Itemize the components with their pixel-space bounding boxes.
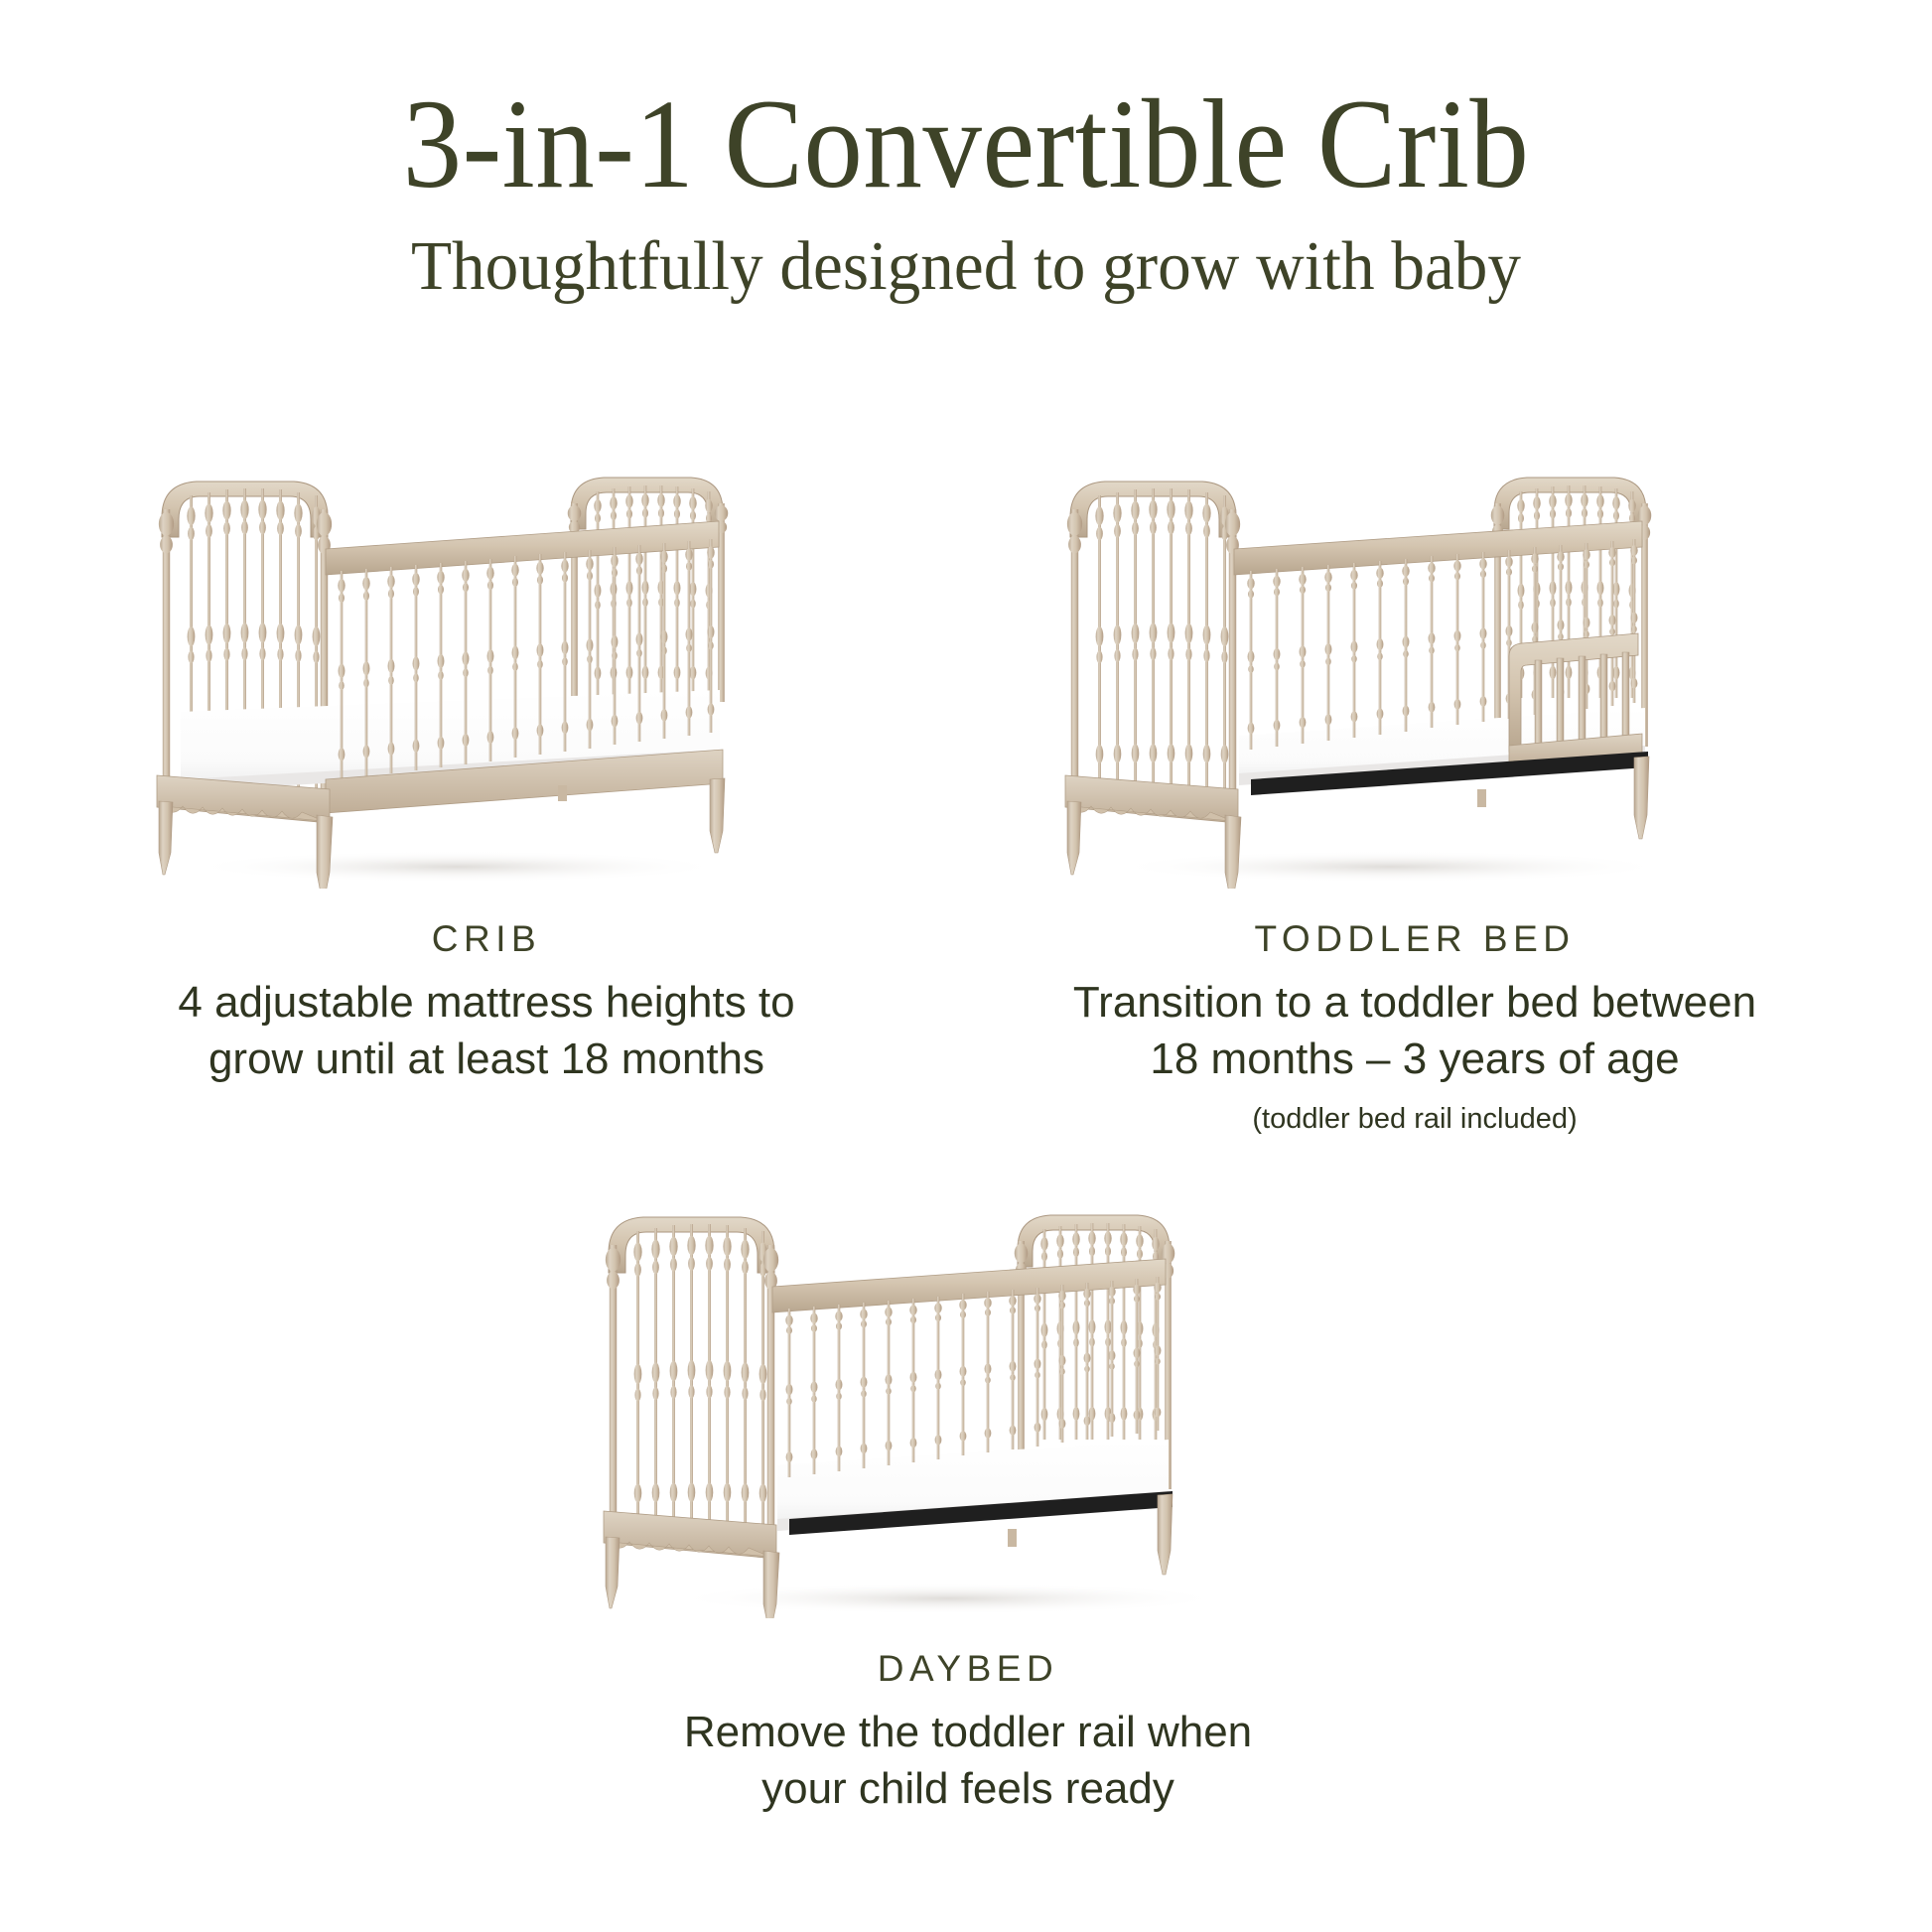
toddler-guard-rail (1509, 633, 1642, 767)
caption-line: Remove the toddler rail when (501, 1704, 1435, 1760)
caption-body-daybed: Remove the toddler rail when your child … (501, 1704, 1435, 1817)
caption-body-crib: 4 adjustable mattress heights to grow un… (60, 974, 913, 1087)
crib-illustration (60, 452, 913, 889)
caption-label-toddler-bed: TODDLER BED (953, 918, 1876, 960)
caption-note-toddler-bed: (toddler bed rail included) (953, 1101, 1876, 1139)
panel-toddler-bed: TODDLER BED Transition to a toddler bed … (953, 452, 1876, 1139)
page-title: 3-in-1 Convertible Crib (68, 77, 1864, 210)
caption-line: grow until at least 18 months (60, 1031, 913, 1087)
daybed-front-headboard (606, 1217, 778, 1543)
daybed-illustration (501, 1191, 1435, 1618)
caption-toddler-bed: TODDLER BED Transition to a toddler bed … (953, 918, 1876, 1139)
daybed-scalloped-skirt (604, 1511, 776, 1559)
caption-label-daybed: DAYBED (501, 1648, 1435, 1690)
toddler-front-headboard (1067, 482, 1240, 807)
header: 3-in-1 Convertible Crib Thoughtfully des… (0, 77, 1932, 305)
floor-shadow (189, 851, 725, 883)
panel-daybed: DAYBED Remove the toddler rail when your… (501, 1191, 1435, 1817)
caption-line: 18 months – 3 years of age (953, 1031, 1876, 1087)
caption-label-crib: CRIB (60, 918, 913, 960)
caption-body-toddler-bed: Transition to a toddler bed between 18 m… (953, 974, 1876, 1087)
caption-daybed: DAYBED Remove the toddler rail when your… (501, 1648, 1435, 1817)
floor-shadow (670, 1583, 1226, 1614)
caption-crib: CRIB 4 adjustable mattress heights to gr… (60, 918, 913, 1087)
toddler-scalloped-skirt (1065, 775, 1238, 823)
panel-crib: CRIB 4 adjustable mattress heights to gr… (60, 452, 913, 1087)
caption-line: Transition to a toddler bed between (953, 974, 1876, 1031)
caption-line: 4 adjustable mattress heights to (60, 974, 913, 1031)
toddler-bed-illustration (953, 452, 1876, 889)
infographic-page: 3-in-1 Convertible Crib Thoughtfully des… (0, 0, 1932, 1932)
page-subtitle: Thoughtfully designed to grow with baby (39, 228, 1893, 305)
floor-shadow (1112, 851, 1668, 883)
caption-line: your child feels ready (501, 1760, 1435, 1817)
crib-back-headboard (568, 478, 729, 702)
